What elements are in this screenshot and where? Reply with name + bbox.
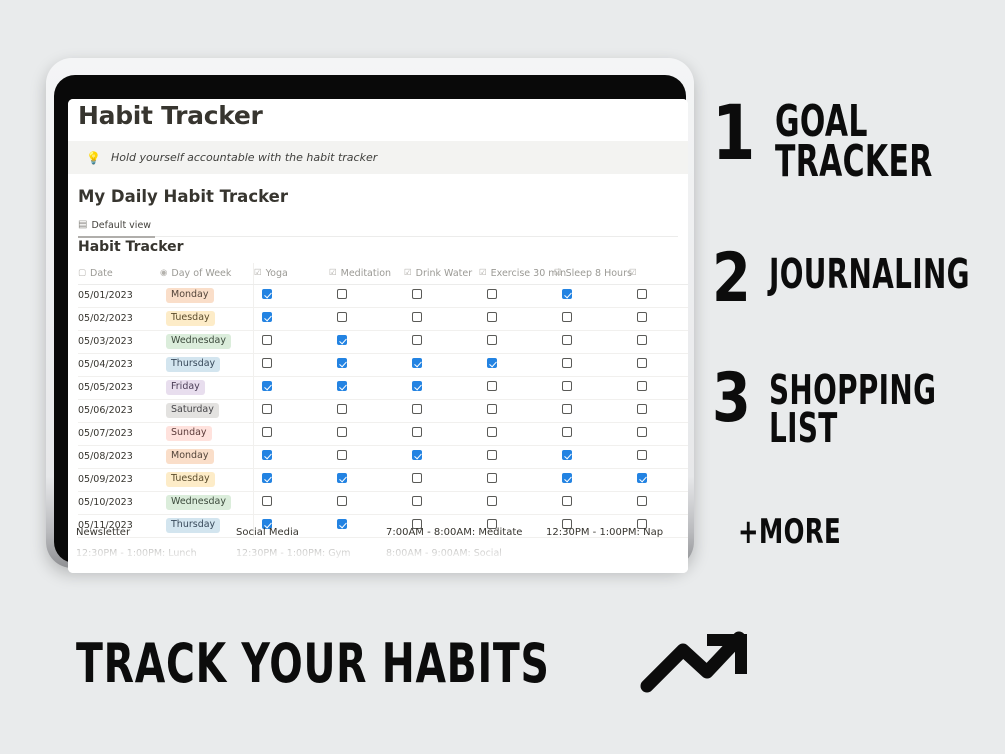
day-pill: Friday: [166, 380, 205, 395]
checkbox-exercise-30-min[interactable]: [487, 381, 497, 391]
cell-exercise-30-min[interactable]: [479, 353, 554, 376]
column-header-meditation-label: Meditation: [341, 268, 391, 279]
checkbox-exercise-30-min[interactable]: [487, 450, 497, 460]
checkbox-sleep-8-hours[interactable]: [562, 335, 572, 345]
checkbox-drink-water[interactable]: [412, 358, 422, 368]
checkbox-yoga[interactable]: [262, 312, 272, 322]
promo-item-1-number: 1: [712, 100, 755, 165]
checkbox-yoga[interactable]: [262, 427, 272, 437]
checkbox-exercise-30-min[interactable]: [487, 473, 497, 483]
table-row[interactable]: 05/09/2023Tuesday: [78, 468, 688, 491]
cell-yoga[interactable]: [254, 399, 330, 422]
checkbox-drink-water[interactable]: [412, 404, 422, 414]
table-row[interactable]: 05/05/2023Friday: [78, 376, 688, 399]
cell-date[interactable]: 05/03/2023: [78, 330, 160, 353]
column-header-yoga[interactable]: ☑ Yoga: [254, 263, 330, 284]
checkbox-yoga[interactable]: [262, 496, 272, 506]
overlay-row-2: 12:30PM - 1:00PM: Lunch12:30PM - 1:00PM:…: [68, 548, 688, 564]
cell-exercise-30-min[interactable]: [479, 399, 554, 422]
cell-extra[interactable]: [629, 422, 688, 445]
checkbox-meditation[interactable]: [337, 450, 347, 460]
day-pill: Thursday: [166, 518, 220, 533]
checkbox-exercise-30-min[interactable]: [487, 289, 497, 299]
checkbox-meditation[interactable]: [337, 496, 347, 506]
column-header-exercise-30-min[interactable]: ☑ Exercise 30 min: [479, 263, 554, 284]
tab-default-view-label: Default view: [91, 220, 151, 231]
day-pill: Monday: [166, 449, 214, 464]
cell-day-of-week[interactable]: Thursday: [160, 514, 254, 537]
checkbox-icon: ☑: [479, 269, 487, 278]
checkbox-meditation[interactable]: [337, 335, 347, 345]
database-title: My Daily Habit Tracker: [78, 187, 288, 206]
tablet-mockup: Habit Tracker 💡 Hold yourself accountabl…: [46, 47, 694, 575]
cell-yoga[interactable]: [254, 353, 330, 376]
checkbox-sleep-8-hours[interactable]: [562, 404, 572, 414]
cell-sleep-8-hours[interactable]: [554, 353, 629, 376]
cell-extra[interactable]: [629, 491, 688, 514]
cell-meditation[interactable]: [329, 491, 404, 514]
checkbox-exercise-30-min[interactable]: [487, 427, 497, 437]
checkbox-yoga[interactable]: [262, 358, 272, 368]
checkbox-meditation[interactable]: [337, 519, 347, 529]
table-header-row: ▢ Date ◉ Day of Week: [78, 263, 688, 284]
cell-day-of-week[interactable]: Sunday: [160, 422, 254, 445]
checkbox-exercise-30-min[interactable]: [487, 312, 497, 322]
checkbox-sleep-8-hours[interactable]: [562, 289, 572, 299]
cell-meditation[interactable]: [329, 422, 404, 445]
column-header-drink-water[interactable]: ☑ Drink Water: [404, 263, 479, 284]
table-row[interactable]: 05/04/2023Thursday: [78, 353, 688, 376]
cell-yoga[interactable]: [254, 376, 330, 399]
checkbox-yoga[interactable]: [262, 450, 272, 460]
cell-date[interactable]: 05/06/2023: [78, 399, 160, 422]
checkbox-exercise-30-min[interactable]: [487, 404, 497, 414]
cell-drink-water[interactable]: [404, 353, 479, 376]
checkbox-drink-water[interactable]: [412, 289, 422, 299]
cell-extra[interactable]: [629, 514, 688, 537]
checkbox-drink-water[interactable]: [412, 335, 422, 345]
cell-day-of-week[interactable]: Tuesday: [160, 307, 254, 330]
checkbox-yoga[interactable]: [262, 289, 272, 299]
table-row[interactable]: 05/10/2023Wednesday: [78, 491, 688, 514]
column-header-date-label: Date: [90, 268, 113, 279]
cell-day-of-week[interactable]: Thursday: [160, 353, 254, 376]
column-header-day-of-week-label: Day of Week: [171, 268, 231, 279]
cell-sleep-8-hours[interactable]: [554, 422, 629, 445]
cell-yoga[interactable]: [254, 422, 330, 445]
day-pill: Thursday: [166, 357, 220, 372]
promo-item-2-number: 2: [712, 250, 751, 308]
promo-item-3-number: 3: [712, 370, 751, 428]
checkbox-sleep-8-hours[interactable]: [562, 496, 572, 506]
promo-item-3: 3 SHOPPING LIST: [712, 370, 1005, 447]
day-pill: Saturday: [166, 403, 219, 418]
checkbox-extra[interactable]: [637, 496, 647, 506]
cell-extra[interactable]: [629, 376, 688, 399]
checkbox-icon: ☑: [629, 269, 637, 278]
cell-drink-water[interactable]: [404, 307, 479, 330]
promo-item-1: 1 GOAL TRACKER: [712, 100, 1005, 183]
column-header-sleep-8-hours[interactable]: ☑ Sleep 8 Hours: [554, 263, 629, 284]
checkbox-meditation[interactable]: [337, 404, 347, 414]
day-pill: Monday: [166, 288, 214, 303]
cell-drink-water[interactable]: [404, 422, 479, 445]
table-grid-icon: ▤: [78, 220, 87, 230]
checkbox-meditation[interactable]: [337, 358, 347, 368]
cell-meditation[interactable]: [329, 445, 404, 468]
cell-meditation[interactable]: [329, 353, 404, 376]
checkbox-sleep-8-hours[interactable]: [562, 473, 572, 483]
cell-yoga[interactable]: [254, 284, 330, 307]
checkbox-drink-water[interactable]: [412, 450, 422, 460]
checkbox-sleep-8-hours[interactable]: [562, 427, 572, 437]
cell-exercise-30-min[interactable]: [479, 307, 554, 330]
column-header-drink-water-label: Drink Water: [416, 268, 473, 279]
cell-sleep-8-hours[interactable]: [554, 284, 629, 307]
cell-sleep-8-hours[interactable]: [554, 491, 629, 514]
day-pill: Tuesday: [166, 311, 215, 326]
checkbox-sleep-8-hours[interactable]: [562, 358, 572, 368]
table-row[interactable]: 05/01/2023Monday: [78, 284, 688, 307]
cell-drink-water[interactable]: [404, 445, 479, 468]
promo-item-2: 2 JOURNALING: [712, 250, 1005, 308]
cell-sleep-8-hours[interactable]: [554, 376, 629, 399]
cell-drink-water[interactable]: [404, 514, 479, 537]
day-pill: Sunday: [166, 426, 212, 441]
promo-more-label: +MORE: [738, 512, 841, 552]
cell-exercise-30-min[interactable]: [479, 491, 554, 514]
day-pill: Wednesday: [166, 495, 231, 510]
column-header-date[interactable]: ▢ Date: [78, 263, 160, 284]
checkbox-sleep-8-hours[interactable]: [562, 450, 572, 460]
checkbox-exercise-30-min[interactable]: [487, 496, 497, 506]
cell-yoga[interactable]: [254, 514, 330, 537]
checkbox-exercise-30-min[interactable]: [487, 335, 497, 345]
tab-default-view[interactable]: ▤ Default view: [78, 215, 155, 238]
checkbox-extra[interactable]: [637, 381, 647, 391]
cell-extra[interactable]: [629, 284, 688, 307]
checkbox-meditation[interactable]: [337, 427, 347, 437]
checkbox-extra[interactable]: [637, 289, 647, 299]
promo-item-1-label: GOAL TRACKER: [775, 102, 933, 183]
select-circle-icon: ◉: [160, 269, 167, 278]
checkbox-exercise-30-min[interactable]: [487, 358, 497, 368]
cell-yoga[interactable]: [254, 468, 330, 491]
cell-exercise-30-min[interactable]: [479, 445, 554, 468]
checkbox-extra[interactable]: [637, 450, 647, 460]
checkbox-yoga[interactable]: [262, 519, 272, 529]
habit-table-body: 05/01/2023Monday05/02/2023Tuesday05/03/2…: [78, 284, 688, 537]
cell-meditation[interactable]: [329, 514, 404, 537]
cell-date[interactable]: 05/02/2023: [78, 307, 160, 330]
column-header-day-of-week[interactable]: ◉ Day of Week: [160, 263, 254, 284]
cell-extra[interactable]: [629, 445, 688, 468]
cell-meditation[interactable]: [329, 376, 404, 399]
checkbox-meditation[interactable]: [337, 473, 347, 483]
cell-date[interactable]: 05/05/2023: [78, 376, 160, 399]
checkbox-extra[interactable]: [637, 404, 647, 414]
checkbox-meditation[interactable]: [337, 312, 347, 322]
cell-exercise-30-min[interactable]: [479, 514, 554, 537]
checkbox-extra[interactable]: [637, 473, 647, 483]
cell-day-of-week[interactable]: Wednesday: [160, 330, 254, 353]
overlay-text: 12:30PM - 1:00PM: Gym: [236, 548, 351, 559]
cell-drink-water[interactable]: [404, 284, 479, 307]
cell-meditation[interactable]: [329, 468, 404, 491]
table-row[interactable]: 05/06/2023Saturday: [78, 399, 688, 422]
bottom-banner: TRACK YOUR HABITS: [76, 628, 755, 699]
checkbox-extra[interactable]: [637, 427, 647, 437]
checkbox-yoga[interactable]: [262, 473, 272, 483]
promo-item-3-label: SHOPPING LIST: [769, 372, 936, 447]
cell-drink-water[interactable]: [404, 399, 479, 422]
cell-day-of-week[interactable]: Monday: [160, 445, 254, 468]
checkbox-icon: ☑: [329, 269, 337, 278]
column-header-yoga-label: Yoga: [266, 268, 288, 279]
checkbox-extra[interactable]: [637, 358, 647, 368]
cell-sleep-8-hours[interactable]: [554, 445, 629, 468]
overlay-text: 12:30PM - 1:00PM: Lunch: [76, 548, 197, 559]
cell-date[interactable]: 05/08/2023: [78, 445, 160, 468]
tablet-bezel: Habit Tracker 💡 Hold yourself accountabl…: [54, 75, 686, 563]
cell-date[interactable]: 05/01/2023: [78, 284, 160, 307]
cell-exercise-30-min[interactable]: [479, 468, 554, 491]
checkbox-drink-water[interactable]: [412, 473, 422, 483]
day-pill: Tuesday: [166, 472, 215, 487]
checkbox-sleep-8-hours[interactable]: [562, 381, 572, 391]
calendar-icon: ▢: [78, 269, 86, 278]
cell-extra[interactable]: [629, 399, 688, 422]
checkbox-yoga[interactable]: [262, 381, 272, 391]
checkbox-sleep-8-hours[interactable]: [562, 312, 572, 322]
cell-exercise-30-min[interactable]: [479, 376, 554, 399]
promo-item-2-label: JOURNALING: [769, 256, 970, 294]
cell-meditation[interactable]: [329, 399, 404, 422]
cell-date[interactable]: 05/10/2023: [78, 491, 160, 514]
cell-extra[interactable]: [629, 307, 688, 330]
habit-table: ▢ Date ◉ Day of Week: [78, 263, 688, 538]
checkbox-extra[interactable]: [637, 519, 647, 529]
cell-day-of-week[interactable]: Wednesday: [160, 491, 254, 514]
checkbox-icon: ☑: [554, 269, 562, 278]
checkbox-meditation[interactable]: [337, 289, 347, 299]
trend-up-arrow-icon: [639, 628, 755, 699]
checkbox-yoga[interactable]: [262, 404, 272, 414]
cell-extra[interactable]: [629, 330, 688, 353]
page-title: Habit Tracker: [78, 101, 263, 130]
cell-date[interactable]: 05/04/2023: [78, 353, 160, 376]
table-row[interactable]: 05/08/2023Monday: [78, 445, 688, 468]
column-header-meditation[interactable]: ☑ Meditation: [329, 263, 404, 284]
cell-extra[interactable]: [629, 468, 688, 491]
cell-exercise-30-min[interactable]: [479, 422, 554, 445]
column-header-truncated[interactable]: ☑: [629, 263, 688, 284]
checkbox-drink-water[interactable]: [412, 381, 422, 391]
banner-text: TRACK YOUR HABITS: [76, 637, 550, 691]
cell-sleep-8-hours[interactable]: [554, 399, 629, 422]
checkbox-sleep-8-hours[interactable]: [562, 519, 572, 529]
cell-extra[interactable]: [629, 353, 688, 376]
column-header-sleep-8-hours-label: Sleep 8 Hours: [566, 268, 632, 279]
table-row[interactable]: 05/03/2023Wednesday: [78, 330, 688, 353]
cell-day-of-week[interactable]: Saturday: [160, 399, 254, 422]
bottom-fade-gradient: [68, 543, 688, 573]
cell-exercise-30-min[interactable]: [479, 330, 554, 353]
cell-drink-water[interactable]: [404, 330, 479, 353]
cell-meditation[interactable]: [329, 330, 404, 353]
cell-meditation[interactable]: [329, 307, 404, 330]
checkbox-drink-water[interactable]: [412, 496, 422, 506]
cell-exercise-30-min[interactable]: [479, 284, 554, 307]
lightbulb-icon: 💡: [86, 152, 101, 164]
table-row[interactable]: 05/07/2023Sunday: [78, 422, 688, 445]
cell-yoga[interactable]: [254, 307, 330, 330]
tablet-screen: Habit Tracker 💡 Hold yourself accountabl…: [68, 99, 688, 573]
cell-day-of-week[interactable]: Friday: [160, 376, 254, 399]
cell-meditation[interactable]: [329, 284, 404, 307]
callout-block: 💡 Hold yourself accountable with the hab…: [68, 141, 688, 174]
cell-sleep-8-hours[interactable]: [554, 307, 629, 330]
checkbox-meditation[interactable]: [337, 381, 347, 391]
cell-drink-water[interactable]: [404, 468, 479, 491]
checkbox-extra[interactable]: [637, 335, 647, 345]
cell-sleep-8-hours[interactable]: [554, 468, 629, 491]
cell-day-of-week[interactable]: Tuesday: [160, 468, 254, 491]
cell-yoga[interactable]: [254, 330, 330, 353]
notion-page: Habit Tracker 💡 Hold yourself accountabl…: [68, 99, 688, 573]
cell-date[interactable]: 05/07/2023: [78, 422, 160, 445]
tablet-body: Habit Tracker 💡 Hold yourself accountabl…: [46, 58, 694, 568]
cell-day-of-week[interactable]: Monday: [160, 284, 254, 307]
checkbox-yoga[interactable]: [262, 335, 272, 345]
cell-yoga[interactable]: [254, 491, 330, 514]
checkbox-extra[interactable]: [637, 312, 647, 322]
cell-date[interactable]: 05/09/2023: [78, 468, 160, 491]
checkbox-drink-water[interactable]: [412, 427, 422, 437]
table-row[interactable]: 05/02/2023Tuesday: [78, 307, 688, 330]
cell-drink-water[interactable]: [404, 491, 479, 514]
cell-drink-water[interactable]: [404, 376, 479, 399]
callout-text: Hold yourself accountable with the habit…: [111, 151, 377, 164]
cell-sleep-8-hours[interactable]: [554, 514, 629, 537]
overlay-text: 8:00AM - 9:00AM: Social: [386, 548, 502, 559]
checkbox-icon: ☑: [254, 269, 262, 278]
checkbox-drink-water[interactable]: [412, 519, 422, 529]
view-tab-bar: ▤ Default view: [78, 214, 678, 237]
checkbox-exercise-30-min[interactable]: [487, 519, 497, 529]
checkbox-drink-water[interactable]: [412, 312, 422, 322]
cell-sleep-8-hours[interactable]: [554, 330, 629, 353]
checkbox-icon: ☑: [404, 269, 412, 278]
table-row[interactable]: 05/11/2023Thursday: [78, 514, 688, 537]
cell-date[interactable]: 05/11/2023: [78, 514, 160, 537]
table-title: Habit Tracker: [78, 239, 184, 255]
day-pill: Wednesday: [166, 334, 231, 349]
cell-yoga[interactable]: [254, 445, 330, 468]
